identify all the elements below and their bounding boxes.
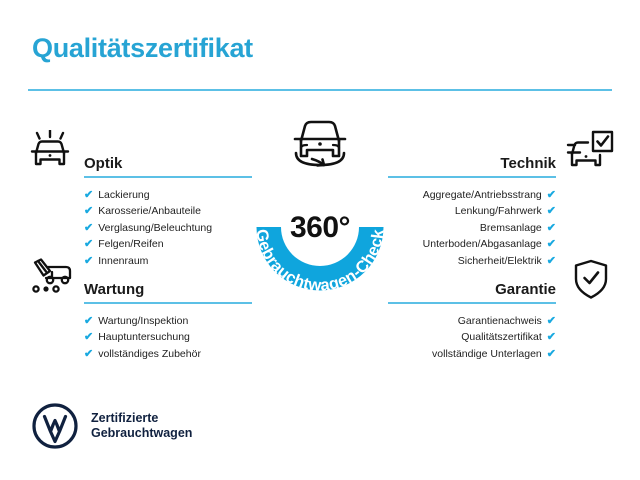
vw-line-1: Zertifizierte <box>91 411 192 426</box>
list-item-label: vollständige Unterlagen <box>432 346 542 362</box>
section-technik: Technik Aggregate/Antriebsstrang✔ Lenkun… <box>388 142 556 269</box>
list-item: ✔Verglasung/Beleuchtung <box>84 220 252 236</box>
check-icon: ✔ <box>84 239 93 250</box>
car-shine-icon <box>28 130 72 177</box>
list-item-label: Bremsanlage <box>480 220 542 236</box>
section-optik: Optik ✔Lackierung ✔Karosserie/Anbauteile… <box>84 142 252 269</box>
list-item-label: Verglasung/Beleuchtung <box>98 220 212 236</box>
checklist: ✔Lackierung ✔Karosserie/Anbauteile ✔Verg… <box>84 178 252 269</box>
check-icon: ✔ <box>84 223 93 234</box>
list-item: ✔Hauptuntersuchung <box>84 329 252 345</box>
section-title: Wartung <box>84 281 144 298</box>
list-item: Garantienachweis✔ <box>388 313 556 329</box>
section-wartung: Wartung ✔Wartung/Inspektion ✔Hauptunters… <box>84 268 252 362</box>
badge-degrees: 360° <box>232 211 408 245</box>
check-icon: ✔ <box>547 349 556 360</box>
check-icon: ✔ <box>84 190 93 201</box>
gebrauchtwagen-check-badge: Gebrauchtwagen-Check 360° <box>232 155 408 305</box>
list-item-label: Felgen/Reifen <box>98 236 163 252</box>
list-item-label: Hauptuntersuchung <box>98 329 190 345</box>
check-icon: ✔ <box>547 223 556 234</box>
list-item: Qualitätszertifikat✔ <box>388 329 556 345</box>
section-header: Optik <box>84 142 252 176</box>
section-title: Technik <box>500 155 556 172</box>
list-item-label: Karosserie/Anbauteile <box>98 203 201 219</box>
vw-line-2: Gebrauchtwagen <box>91 426 192 441</box>
list-item-label: Wartung/Inspektion <box>98 313 188 329</box>
list-item-label: Innenraum <box>98 253 148 269</box>
car-service-pen-icon <box>26 258 74 305</box>
car-checkbox-icon <box>566 130 614 177</box>
list-item-label: Sicherheit/Elektrik <box>458 253 542 269</box>
checklist: Aggregate/Antriebsstrang✔ Lenkung/Fahrwe… <box>388 178 556 269</box>
certificate-page: Qualitätszertifikat <box>0 0 640 480</box>
checklist: ✔Wartung/Inspektion ✔Hauptuntersuchung ✔… <box>84 304 252 362</box>
vw-lockup-text: Zertifizierte Gebrauchtwagen <box>91 411 192 441</box>
vw-lockup: Zertifizierte Gebrauchtwagen <box>32 403 192 449</box>
list-item-label: Garantienachweis <box>458 313 542 329</box>
check-icon: ✔ <box>84 206 93 217</box>
shield-check-icon <box>572 259 610 306</box>
list-item: Sicherheit/Elektrik✔ <box>388 253 556 269</box>
check-icon: ✔ <box>547 206 556 217</box>
list-item: ✔Innenraum <box>84 253 252 269</box>
list-item-label: Lackierung <box>98 187 149 203</box>
list-item: vollständige Unterlagen✔ <box>388 346 556 362</box>
list-item-label: Aggregate/Antriebsstrang <box>423 187 542 203</box>
vw-logo-icon <box>32 403 78 449</box>
check-icon: ✔ <box>547 239 556 250</box>
list-item-label: Lenkung/Fahrwerk <box>455 203 542 219</box>
list-item: ✔Karosserie/Anbauteile <box>84 203 252 219</box>
check-icon: ✔ <box>547 256 556 267</box>
title-divider <box>28 89 612 91</box>
list-item: Aggregate/Antriebsstrang✔ <box>388 187 556 203</box>
list-item: ✔Lackierung <box>84 187 252 203</box>
list-item-label: vollständiges Zubehör <box>98 346 201 362</box>
list-item: ✔Felgen/Reifen <box>84 236 252 252</box>
section-header: Wartung <box>84 268 252 302</box>
section-title: Optik <box>84 155 122 172</box>
list-item: Unterboden/Abgasanlage✔ <box>388 236 556 252</box>
page-title: Qualitätszertifikat <box>32 33 253 64</box>
section-garantie: Garantie Garantienachweis✔ Qualitätszert… <box>388 268 556 362</box>
section-header: Technik <box>388 142 556 176</box>
check-icon: ✔ <box>547 190 556 201</box>
list-item-label: Qualitätszertifikat <box>461 329 542 345</box>
check-icon: ✔ <box>84 332 93 343</box>
check-icon: ✔ <box>84 316 93 327</box>
list-item: Bremsanlage✔ <box>388 220 556 236</box>
checklist: Garantienachweis✔ Qualitätszertifikat✔ v… <box>388 304 556 362</box>
check-icon: ✔ <box>84 256 93 267</box>
list-item: ✔vollständiges Zubehör <box>84 346 252 362</box>
section-title: Garantie <box>495 281 556 298</box>
list-item-label: Unterboden/Abgasanlage <box>423 236 542 252</box>
section-header: Garantie <box>388 268 556 302</box>
list-item: ✔Wartung/Inspektion <box>84 313 252 329</box>
check-icon: ✔ <box>547 332 556 343</box>
check-icon: ✔ <box>547 316 556 327</box>
check-icon: ✔ <box>84 349 93 360</box>
list-item: Lenkung/Fahrwerk✔ <box>388 203 556 219</box>
